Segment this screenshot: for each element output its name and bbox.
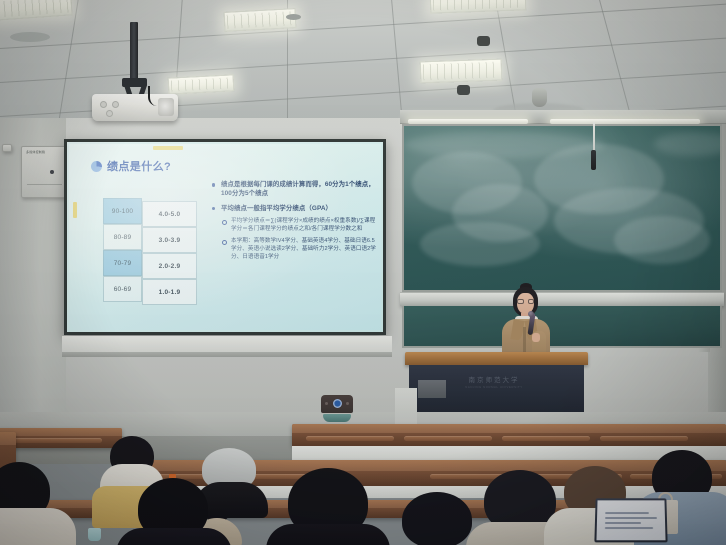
- hanging-microphone-cable: [593, 122, 595, 152]
- table-cell-score: 60-69: [103, 276, 142, 302]
- desk-front-panel: [404, 436, 492, 441]
- desk-front-panel: [600, 436, 688, 441]
- projector-knob: [106, 110, 113, 117]
- bullet-subitem: 本学期：高等数学IV4学分、基础英语4学分、基础日语6.5学分、英语小说选读2学…: [221, 238, 379, 262]
- projector-cable: [148, 86, 162, 106]
- wall-panel: [395, 388, 417, 428]
- ceiling-light-panel: [168, 74, 235, 94]
- table-cell-gpa: 1.0-1.9: [142, 279, 197, 305]
- chalk-tray: [400, 292, 724, 306]
- pie-chart-icon: [91, 161, 102, 172]
- slide: 绩点是什么? 90-100 80-89 70-79 60-69 4.0-5.0 …: [69, 144, 381, 330]
- desk-front-panel: [306, 436, 394, 441]
- ceiling-fan-motor: [532, 88, 547, 107]
- control-box-indicator: [50, 170, 54, 174]
- smoke-detector: [286, 14, 301, 20]
- travel-cup: [88, 528, 101, 541]
- table-cell-gpa: 3.0-3.9: [142, 227, 197, 253]
- list-item: [124, 478, 220, 545]
- slide-title-row: 绩点是什么?: [91, 158, 171, 174]
- table-cell-gpa: 2.0-2.9: [142, 253, 197, 279]
- laptop-screen: [594, 498, 667, 542]
- bullet-item: 绩点是根据每门课的成绩计算而得，60分为1个绩点，100分为5个绩点: [211, 180, 379, 199]
- table-cell-score: 90-100: [103, 198, 142, 224]
- grade-table-score-column: 90-100 80-89 70-79 60-69: [103, 198, 142, 305]
- control-box-footer: [27, 184, 62, 193]
- desk-front-panel: [6, 438, 102, 443]
- ceiling-projector: [92, 94, 178, 121]
- grade-table: 90-100 80-89 70-79 60-69 4.0-5.0 3.0-3.9…: [103, 198, 197, 305]
- control-box-label: 多媒体控制箱: [26, 150, 64, 154]
- desk-front-panel: [502, 436, 590, 441]
- glasses-icon: [517, 299, 534, 304]
- projector-mount-pole: [130, 22, 138, 80]
- wall-panel: [418, 380, 446, 398]
- wall-outlet[interactable]: [2, 144, 12, 152]
- podium-university-name: 南京师范大学: [435, 374, 553, 384]
- table-cell-score: 70-79: [103, 250, 142, 276]
- chair-logo-icon: [333, 399, 342, 408]
- projector-knob: [112, 101, 119, 108]
- hanging-microphone[interactable]: [591, 150, 596, 170]
- presenter: [496, 283, 556, 355]
- ceiling-light-panel: [420, 59, 503, 84]
- blackboard: [402, 124, 722, 292]
- blackboard-assembly: [400, 110, 726, 348]
- ceiling-light-panel: [224, 8, 297, 32]
- classroom-chair[interactable]: [321, 395, 353, 425]
- table-cell-score: 80-89: [103, 224, 142, 250]
- slide-accent-bar-top: [153, 146, 183, 150]
- microphone-head: [528, 311, 534, 317]
- student-body: [266, 524, 390, 545]
- ceiling-speaker: [477, 36, 490, 46]
- wall-trim: [62, 336, 392, 352]
- bullet-item: 平均绩点一般指平均学分绩点（GPA）: [211, 204, 379, 213]
- list-item: [272, 468, 382, 545]
- wall-trim: [62, 352, 392, 357]
- laptop-display: [596, 500, 665, 540]
- chair-seat: [323, 414, 351, 422]
- slide-accent-bar: [73, 202, 77, 218]
- presenter-hand: [532, 333, 540, 342]
- classroom-scene: 多媒体控制箱 绩点是什么? 90-100 80-89 70-79: [0, 0, 726, 545]
- projector-knob: [100, 101, 107, 108]
- ceiling-speaker: [457, 85, 470, 95]
- slide-title: 绩点是什么?: [107, 158, 171, 174]
- ceiling-vent: [10, 32, 50, 42]
- chair-stud: [325, 402, 328, 405]
- list-item: [0, 462, 60, 545]
- student-head: [402, 492, 472, 545]
- wall-control-box[interactable]: 多媒体控制箱: [21, 146, 68, 198]
- laptop[interactable]: [592, 498, 670, 545]
- student-body: [0, 508, 76, 545]
- table-cell-gpa: 4.0-5.0: [142, 201, 197, 227]
- blackboard-lower-panel: [402, 306, 722, 348]
- slide-bullet-list: 绩点是根据每门课的成绩计算而得，60分为1个绩点，100分为5个绩点 平均绩点一…: [211, 180, 379, 266]
- desk-row: [292, 424, 726, 446]
- podium-university-subtitle: NANJING NORMAL UNIVERSITY: [435, 385, 553, 389]
- grade-table-gpa-column: 4.0-5.0 3.0-3.9 2.0-2.9 1.0-1.9: [142, 201, 197, 305]
- bullet-subitem: 平均学分绩点＝∑(课程学分×成绩的绩点×权重系数)/∑课程学分＝各门课程学分的绩…: [221, 218, 379, 234]
- chair-stud: [346, 402, 349, 405]
- podium-desktop: [405, 352, 588, 365]
- student-body: [116, 528, 232, 545]
- projection-screen: 绩点是什么? 90-100 80-89 70-79 60-69 4.0-5.0 …: [64, 139, 386, 335]
